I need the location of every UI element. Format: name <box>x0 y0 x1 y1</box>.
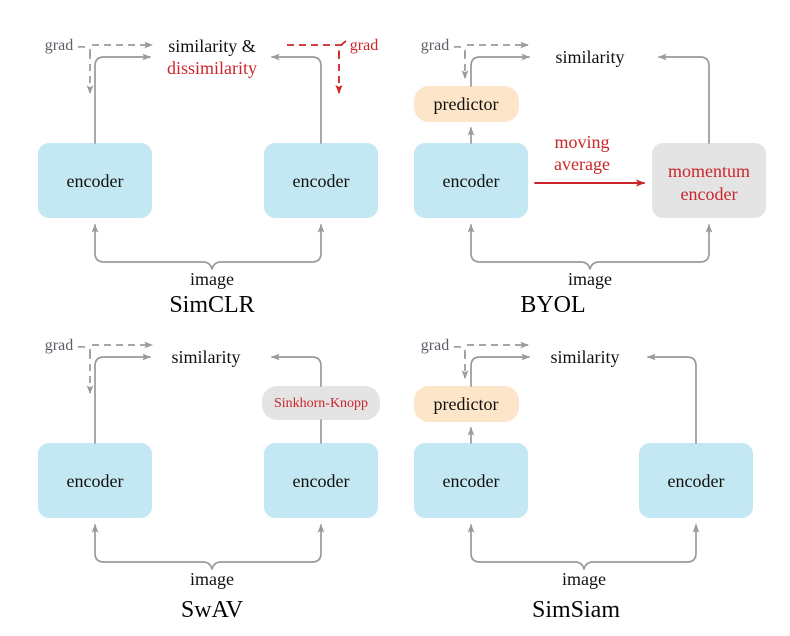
byol-input-label: image <box>568 269 612 289</box>
byol-objective-label: similarity <box>556 47 625 67</box>
self-supervised-methods-figure: encoder encoder grad grad similarity & d… <box>0 0 790 636</box>
swav-grad-label: grad <box>45 337 73 354</box>
simsiam-right-forward-arrow <box>648 357 696 443</box>
byol-momentum-encoder-line1: momentum <box>668 161 750 181</box>
byol-momentum-to-similarity-arrow <box>659 57 709 143</box>
swav-panel-title: SwAV <box>181 597 244 623</box>
swav-left-forward-arrow <box>95 357 150 443</box>
swav-grad-elbow <box>78 347 90 356</box>
simsiam-input-label: image <box>562 569 606 589</box>
byol-moving-average-line2: average <box>554 154 610 174</box>
simclr-right-grad-label: grad <box>350 37 378 54</box>
simclr-right-encoder-label: encoder <box>293 171 350 191</box>
simclr-left-grad-label: grad <box>45 37 73 54</box>
byol-grad-label: grad <box>421 37 449 54</box>
byol-momentum-encoder-line2: encoder <box>681 184 738 204</box>
swav-input-brace <box>95 553 321 569</box>
byol-moving-average-line1: moving <box>554 132 609 152</box>
simclr-input-label: image <box>190 269 234 289</box>
simclr-left-encoder-label: encoder <box>67 171 124 191</box>
simsiam-grad-elbow <box>454 347 465 358</box>
simsiam-predictor-to-similarity-arrow <box>471 357 529 386</box>
panel-simclr: encoder encoder grad grad similarity & d… <box>38 36 378 318</box>
diagram-canvas: encoder encoder grad grad similarity & d… <box>0 0 790 636</box>
byol-input-brace <box>471 253 709 269</box>
byol-predictor-to-similarity-arrow <box>471 57 529 86</box>
swav-input-label: image <box>190 569 234 589</box>
simsiam-objective-label: similarity <box>551 347 620 367</box>
simclr-objective-line1: similarity & <box>168 36 256 56</box>
simsiam-predictor-label: predictor <box>434 394 499 414</box>
simsiam-right-encoder-label: encoder <box>668 471 725 491</box>
simclr-input-brace <box>95 253 321 269</box>
simclr-left-grad-elbow <box>78 47 90 56</box>
simclr-panel-title: SimCLR <box>169 292 254 318</box>
byol-predictor-label: predictor <box>434 94 499 114</box>
simclr-right-forward-arrow <box>272 57 321 143</box>
byol-panel-title: BYOL <box>520 292 585 318</box>
byol-encoder-label: encoder <box>443 171 500 191</box>
swav-objective-label: similarity <box>172 347 241 367</box>
simsiam-panel-title: SimSiam <box>532 597 620 623</box>
simclr-objective-line2: dissimilarity <box>167 58 257 78</box>
swav-left-encoder-label: encoder <box>67 471 124 491</box>
simclr-right-grad-elbow <box>339 41 346 56</box>
simsiam-input-brace <box>471 553 696 569</box>
panel-byol: encoder predictor momentum encoder movin… <box>414 37 766 318</box>
swav-sinkhorn-to-similarity-arrow <box>272 357 321 386</box>
swav-sinkhorn-knopp-label: Sinkhorn-Knopp <box>274 396 368 411</box>
panel-simsiam: encoder predictor encoder grad similarit… <box>414 337 753 623</box>
panel-swav: encoder encoder Sinkhorn-Knopp grad simi… <box>38 337 380 623</box>
simsiam-left-encoder-label: encoder <box>443 471 500 491</box>
byol-grad-elbow <box>454 47 465 58</box>
swav-right-encoder-label: encoder <box>293 471 350 491</box>
simsiam-grad-label: grad <box>421 337 449 354</box>
simclr-left-forward-arrow <box>95 57 150 143</box>
